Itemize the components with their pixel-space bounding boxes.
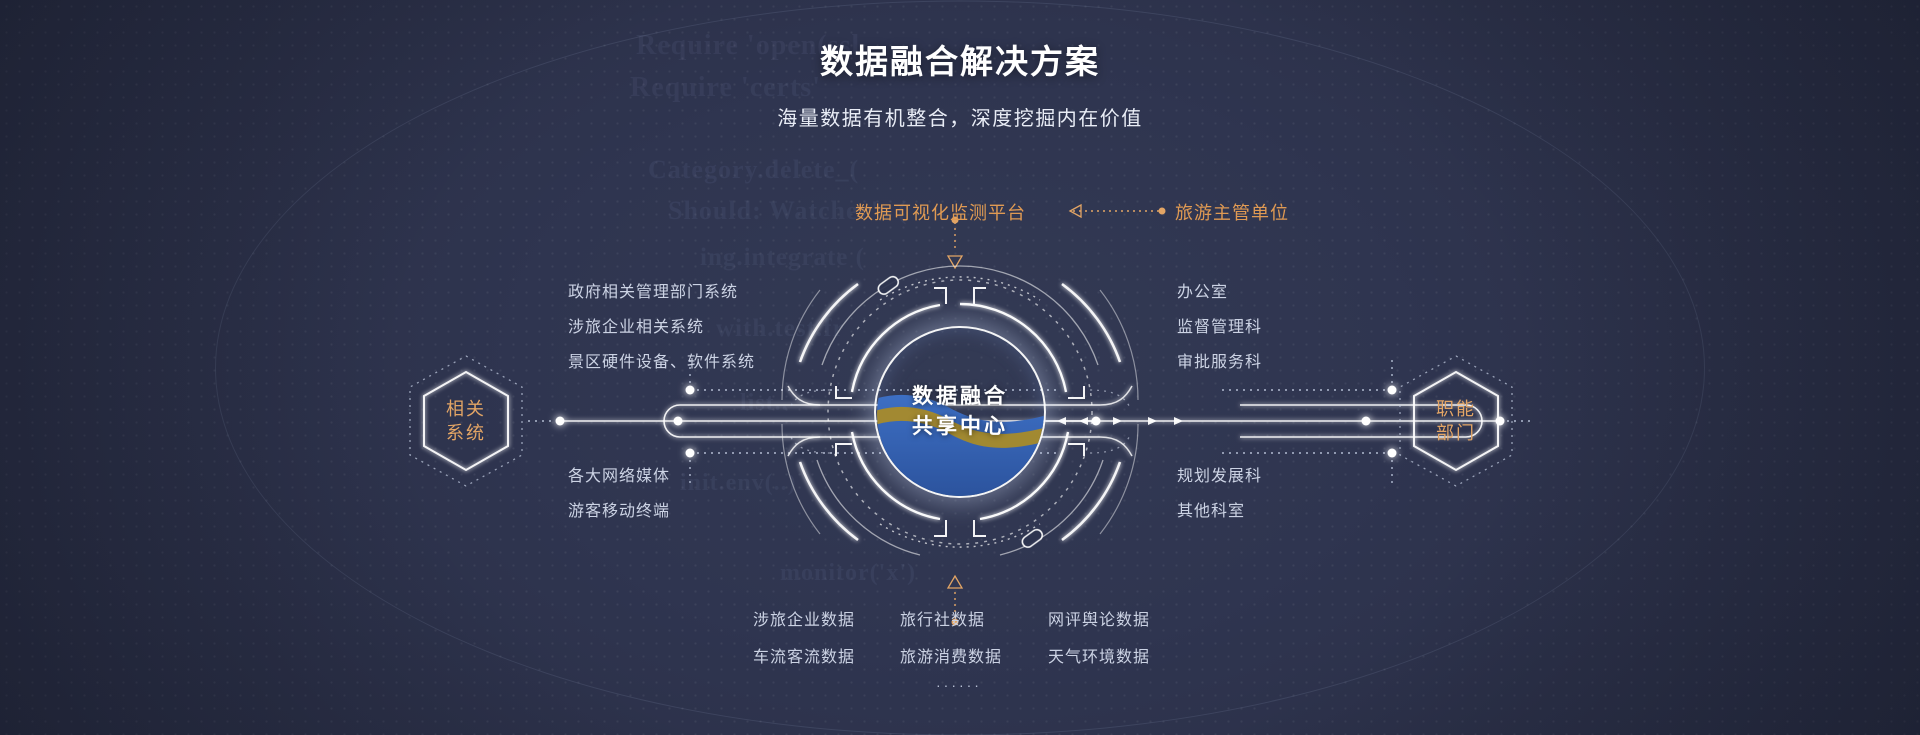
hex-right-line2: 部门 [1436, 421, 1476, 445]
label-bottom-ellipsis: ······ [936, 677, 982, 693]
hex-left-line1: 相关 [446, 397, 486, 421]
label-right-top-0[interactable]: 办公室 [1177, 278, 1228, 302]
label-bottom-r2-0[interactable]: 车流客流数据 [753, 643, 855, 667]
label-right-top-1[interactable]: 监督管理科 [1177, 313, 1262, 337]
label-left-top-0[interactable]: 政府相关管理部门系统 [568, 278, 738, 302]
hex-right-functional-depts[interactable]: 职能 部门 [1394, 352, 1518, 490]
core-label-line1: 数据融合 [912, 382, 1008, 412]
page-subtitle: 海量数据有机整合，深度挖掘内在价值 [0, 102, 1920, 131]
label-bottom-r1-2[interactable]: 网评舆论数据 [1048, 606, 1150, 630]
hex-left-label: 相关 系统 [404, 352, 528, 490]
label-right-bottom-0[interactable]: 规划发展科 [1177, 462, 1262, 486]
hex-left-related-systems[interactable]: 相关 系统 [404, 352, 528, 490]
diagram-canvas: Require 'open(ssl Require 'certs' Catego… [0, 0, 1920, 735]
label-right-top-2[interactable]: 审批服务科 [1177, 348, 1262, 372]
core-label: 数据融合 共享中心 [874, 326, 1046, 498]
label-bottom-r2-2[interactable]: 天气环境数据 [1048, 643, 1150, 667]
core-label-line2: 共享中心 [912, 412, 1008, 442]
label-right-bottom-1[interactable]: 其他科室 [1177, 497, 1245, 521]
hex-left-line2: 系统 [446, 421, 486, 445]
core-node[interactable]: 数据融合 共享中心 [874, 326, 1046, 498]
label-left-bottom-0[interactable]: 各大网络媒体 [568, 462, 670, 486]
label-left-bottom-1[interactable]: 游客移动终端 [568, 497, 670, 521]
label-bottom-r1-1[interactable]: 旅行社数据 [900, 606, 985, 630]
label-left-top-1[interactable]: 涉旅企业相关系统 [568, 313, 704, 337]
label-left-top-2[interactable]: 景区硬件设备、软件系统 [568, 348, 755, 372]
hex-right-label: 职能 部门 [1394, 352, 1518, 490]
label-visualization-platform[interactable]: 数据可视化监测平台 [855, 199, 1026, 225]
label-bottom-r1-0[interactable]: 涉旅企业数据 [753, 606, 855, 630]
label-tourism-authority[interactable]: 旅游主管单位 [1175, 199, 1289, 225]
label-bottom-r2-1[interactable]: 旅游消费数据 [900, 643, 1002, 667]
hex-right-line1: 职能 [1436, 397, 1476, 421]
page-title: 数据融合解决方案 [0, 35, 1920, 83]
